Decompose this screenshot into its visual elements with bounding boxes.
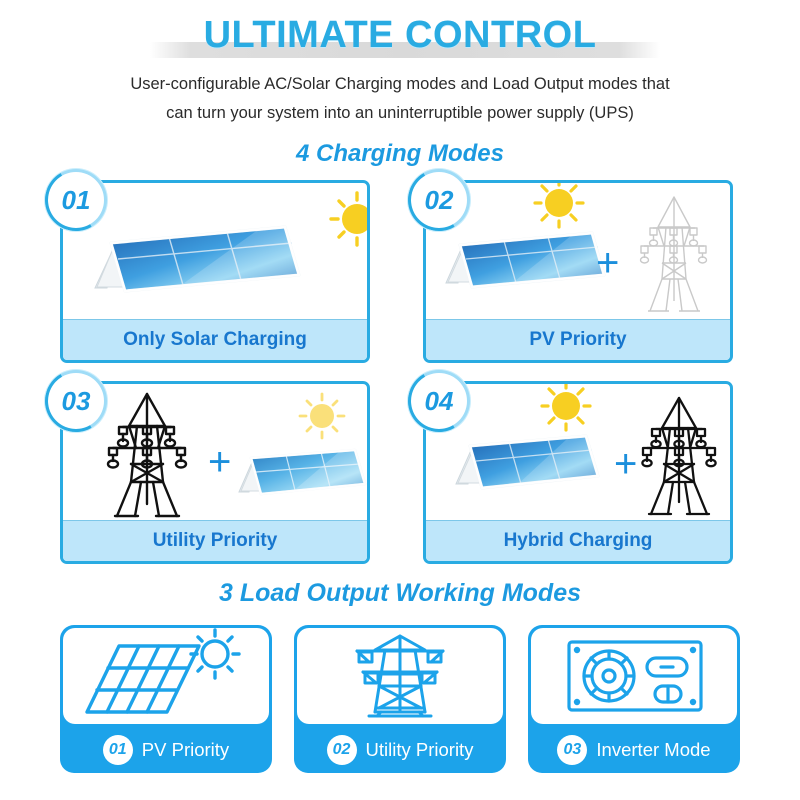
load-card-03-footer: 03 Inverter Mode (528, 726, 740, 773)
sun-icon (331, 193, 370, 245)
inverter-outline-icon (531, 628, 737, 724)
sun-icon (535, 180, 583, 227)
plus-sign-02: + (596, 243, 619, 283)
card-01-artwork (63, 183, 367, 320)
load-mode-card-02[interactable]: 02 Utility Priority (294, 625, 506, 773)
load-card-02-footer: 02 Utility Priority (294, 726, 506, 773)
plus-sign-03: + (208, 442, 231, 482)
solar-panel-sun-outline-icon (63, 628, 269, 724)
charging-mode-card-03[interactable]: + Utility Priority (60, 381, 370, 564)
card-04-label: Hybrid Charging (426, 520, 730, 561)
pv-priority-illustration (426, 183, 733, 326)
charging-mode-card-02[interactable]: + PV Priority (423, 180, 733, 363)
plus-sign-04: + (614, 444, 637, 484)
card-03-badge: 03 (48, 373, 104, 429)
sun-pale-icon (300, 394, 344, 438)
pylon-outline-icon (297, 628, 503, 724)
card-01-label: Only Solar Charging (63, 319, 367, 360)
load-card-03-artwork (531, 628, 737, 724)
infographic-page: ULTIMATE CONTROL User-configurable AC/So… (0, 0, 800, 800)
load-card-01-artwork (63, 628, 269, 724)
load-mode-card-03[interactable]: 03 Inverter Mode (528, 625, 740, 773)
charging-modes-heading: 4 Charging Modes (0, 140, 800, 168)
load-card-01-badge: 01 (103, 735, 133, 765)
load-card-01-footer: 01 PV Priority (60, 726, 272, 773)
card-03-label: Utility Priority (63, 520, 367, 561)
subtitle-line-1: User-configurable AC/Solar Charging mode… (60, 70, 740, 99)
card-04-artwork (426, 384, 730, 521)
sun-icon (542, 382, 590, 430)
load-card-01-label: PV Priority (142, 739, 229, 761)
load-card-02-badge: 02 (327, 735, 357, 765)
load-card-03-badge: 03 (557, 735, 587, 765)
pylon-icon (108, 394, 186, 516)
pylon-outline-icon (641, 197, 707, 311)
load-modes-heading: 3 Load Output Working Modes (0, 579, 800, 608)
load-card-03-label: Inverter Mode (596, 739, 710, 761)
charging-mode-card-04[interactable]: + Hybrid Charging (423, 381, 733, 564)
card-02-label: PV Priority (426, 319, 730, 360)
load-mode-card-01[interactable]: 01 PV Priority (60, 625, 272, 773)
card-04-badge: 04 (411, 373, 467, 429)
solar-only-illustration (63, 183, 370, 326)
card-02-artwork (426, 183, 730, 320)
solar-panel-icon (239, 450, 365, 494)
pylon-icon (642, 398, 715, 514)
page-title: ULTIMATE CONTROL (0, 14, 800, 57)
solar-panel-icon (446, 233, 604, 287)
load-card-02-artwork (297, 628, 503, 724)
solar-panel-icon (95, 227, 299, 291)
hybrid-charging-illustration (426, 384, 733, 527)
solar-panel-icon (456, 436, 598, 488)
card-02-badge: 02 (411, 172, 467, 228)
subtitle-line-2: can turn your system into an uninterrupt… (60, 99, 740, 128)
charging-mode-card-01[interactable]: Only Solar Charging (60, 180, 370, 363)
header: ULTIMATE CONTROL (0, 14, 800, 62)
card-01-badge: 01 (48, 172, 104, 228)
load-card-02-label: Utility Priority (366, 739, 474, 761)
subtitle: User-configurable AC/Solar Charging mode… (60, 70, 740, 128)
